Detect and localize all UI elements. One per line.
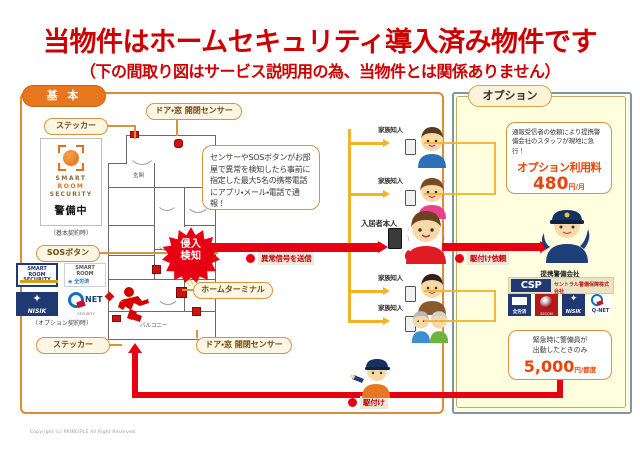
sticker-caption-basic: （基本契約時） xyxy=(40,228,102,237)
flow-arrow-contact-2 xyxy=(383,190,390,198)
sticker-line-1: SMART xyxy=(41,175,101,183)
flow-arrow-contact-1 xyxy=(383,139,390,147)
flow-label-dispatch-request: 駆付け依頼 xyxy=(455,252,509,265)
sticker-logo-2: SMARTROOM ◉ 全労済 xyxy=(64,263,106,287)
flow-branch-vertical-bottom xyxy=(348,247,351,321)
intrusion-detection-burst: 侵入検知 xyxy=(162,227,220,283)
copyright-footer: Copyright (c) PRINCIPLE All Right Reserv… xyxy=(30,430,137,435)
callout-door-sensor-top: ドア・窓 開閉センサー xyxy=(146,103,242,120)
contact-label-2: 家族知人 xyxy=(378,175,403,185)
burglar-icon xyxy=(118,286,152,324)
sensor-entrance-door xyxy=(174,139,183,148)
running-guard-icon xyxy=(350,358,396,398)
sticker-line-2: ROOM xyxy=(41,183,101,191)
dispatch-fee-amount: 5,000円/都度 xyxy=(513,359,607,375)
sticker-logo-1: SMARTROOMSECURITY xyxy=(16,263,58,287)
sticker-logo-3-text: NISIK xyxy=(16,308,58,315)
contact-label-3: 家族知人 xyxy=(378,272,403,282)
intrusion-detection-label: 侵入検知 xyxy=(162,239,220,262)
csp-logo: CSP セントラル警備保障株式会社 xyxy=(508,277,614,294)
option-fee-label: オプション利用料 xyxy=(512,159,606,175)
option-sticker-grid: SMARTROOMSECURITY SMARTROOM ◉ 全労済 ✦ NISI… xyxy=(16,263,108,317)
callout-home-terminal: ホームターミナル xyxy=(193,282,273,299)
sticker-status: 警備中 xyxy=(41,202,101,217)
flow-label-signal-send: 異常信号を送信 xyxy=(246,252,314,265)
connector-door-sensor-bottom xyxy=(196,330,198,338)
flow-arrow-to-resident xyxy=(378,241,388,253)
partner-logo-grid: 全労済 SECOM ✦ NISIK Q-NET xyxy=(508,294,612,316)
option-fee-description: 通報受信者の依頼により提携警備会社のスタッフが現地に急行！ xyxy=(512,128,606,156)
room-label-entrance: 玄関 xyxy=(133,171,144,179)
partner-logo-2: SECOM xyxy=(535,294,558,316)
sticker-logo-4-text: NET xyxy=(85,295,103,304)
partner-logo-4: Q-NET xyxy=(589,294,612,316)
page-title: 当物件はホームセキュリティ導入済み物件です xyxy=(0,20,640,59)
tab-basic: 基 本 xyxy=(22,85,106,107)
info-balloon: センサーやSOSボタンがお部屋で異常を検知したら事前に指定した最大5名の携帯電話… xyxy=(202,145,320,210)
connector-sticker-basic-2 xyxy=(134,125,136,139)
callout-sticker-option: ステッカー xyxy=(36,337,110,354)
sensor-interior xyxy=(152,265,161,274)
sticker-smart-room-security: SMART ROOM SECURITY 警備中 xyxy=(40,138,102,226)
poster-root: 当物件はホームセキュリティ導入済み物件です （下の間取り図はサービス説明用の為、… xyxy=(0,0,640,452)
callout-sticker-basic: ステッカー xyxy=(44,118,108,135)
flow-bullet-1 xyxy=(246,254,255,263)
connector-door-sensor-top xyxy=(176,118,178,136)
callout-door-sensor-bottom: ドア・窓 開閉センサー xyxy=(196,337,292,354)
sensor-balcony-door xyxy=(192,307,201,316)
connector-sticker-option xyxy=(108,344,122,346)
csp-name: セントラル警備保障株式会社 xyxy=(554,281,613,295)
sticker-caption-option: （オプション契約時） xyxy=(16,318,108,327)
callout-sos-button: SOSボタン xyxy=(36,245,100,262)
option-fee-amount: 480円/月 xyxy=(512,176,606,193)
partner-logo-3: ✦ NISIK xyxy=(562,294,585,316)
contact-label-1: 家族知人 xyxy=(378,124,403,134)
sticker-logo-3: ✦ NISIK xyxy=(16,292,58,316)
connector-sticker-basic xyxy=(106,125,134,127)
flow-bullet-2 xyxy=(455,254,464,263)
page-subtitle: （下の間取り図はサービス説明用の為、当物件とは関係ありません） xyxy=(0,58,640,82)
contact-person-4 xyxy=(410,303,450,345)
sticker-logo-2-text: SMARTROOM xyxy=(65,264,105,277)
option-fee-balloon: 通報受信者の依頼により提携警備会社のスタッフが現地に急行！ オプション利用料 4… xyxy=(506,122,612,194)
contact-person-1 xyxy=(412,126,452,168)
flow-arrow-contact-4 xyxy=(383,317,390,325)
security-guard-icon xyxy=(540,205,594,263)
sticker-logo-icon xyxy=(58,145,84,171)
sticker-logo-4: NET SECURITY xyxy=(64,292,106,316)
resident-person xyxy=(400,210,452,264)
partner-logo-1: 全労済 xyxy=(508,294,531,316)
flow-arrow-dispatch xyxy=(128,343,142,353)
csp-mark: CSP xyxy=(511,279,551,292)
dispatch-fee-description: 緊急時に警備員が 出動したときのみ xyxy=(513,336,607,356)
tab-option: オプション xyxy=(468,85,552,107)
contact-label-4: 家族知人 xyxy=(378,302,403,312)
flow-line-dispatch-request xyxy=(442,243,542,251)
flow-branch-vertical-top xyxy=(348,129,351,247)
flow-bullet-3 xyxy=(348,398,357,407)
flow-arrow-contact-3 xyxy=(383,287,390,295)
dispatch-fee-balloon: 緊急時に警備員が 出動したときのみ 5,000円/都度 xyxy=(508,330,612,380)
sticker-line-3: SECURITY xyxy=(41,191,101,199)
